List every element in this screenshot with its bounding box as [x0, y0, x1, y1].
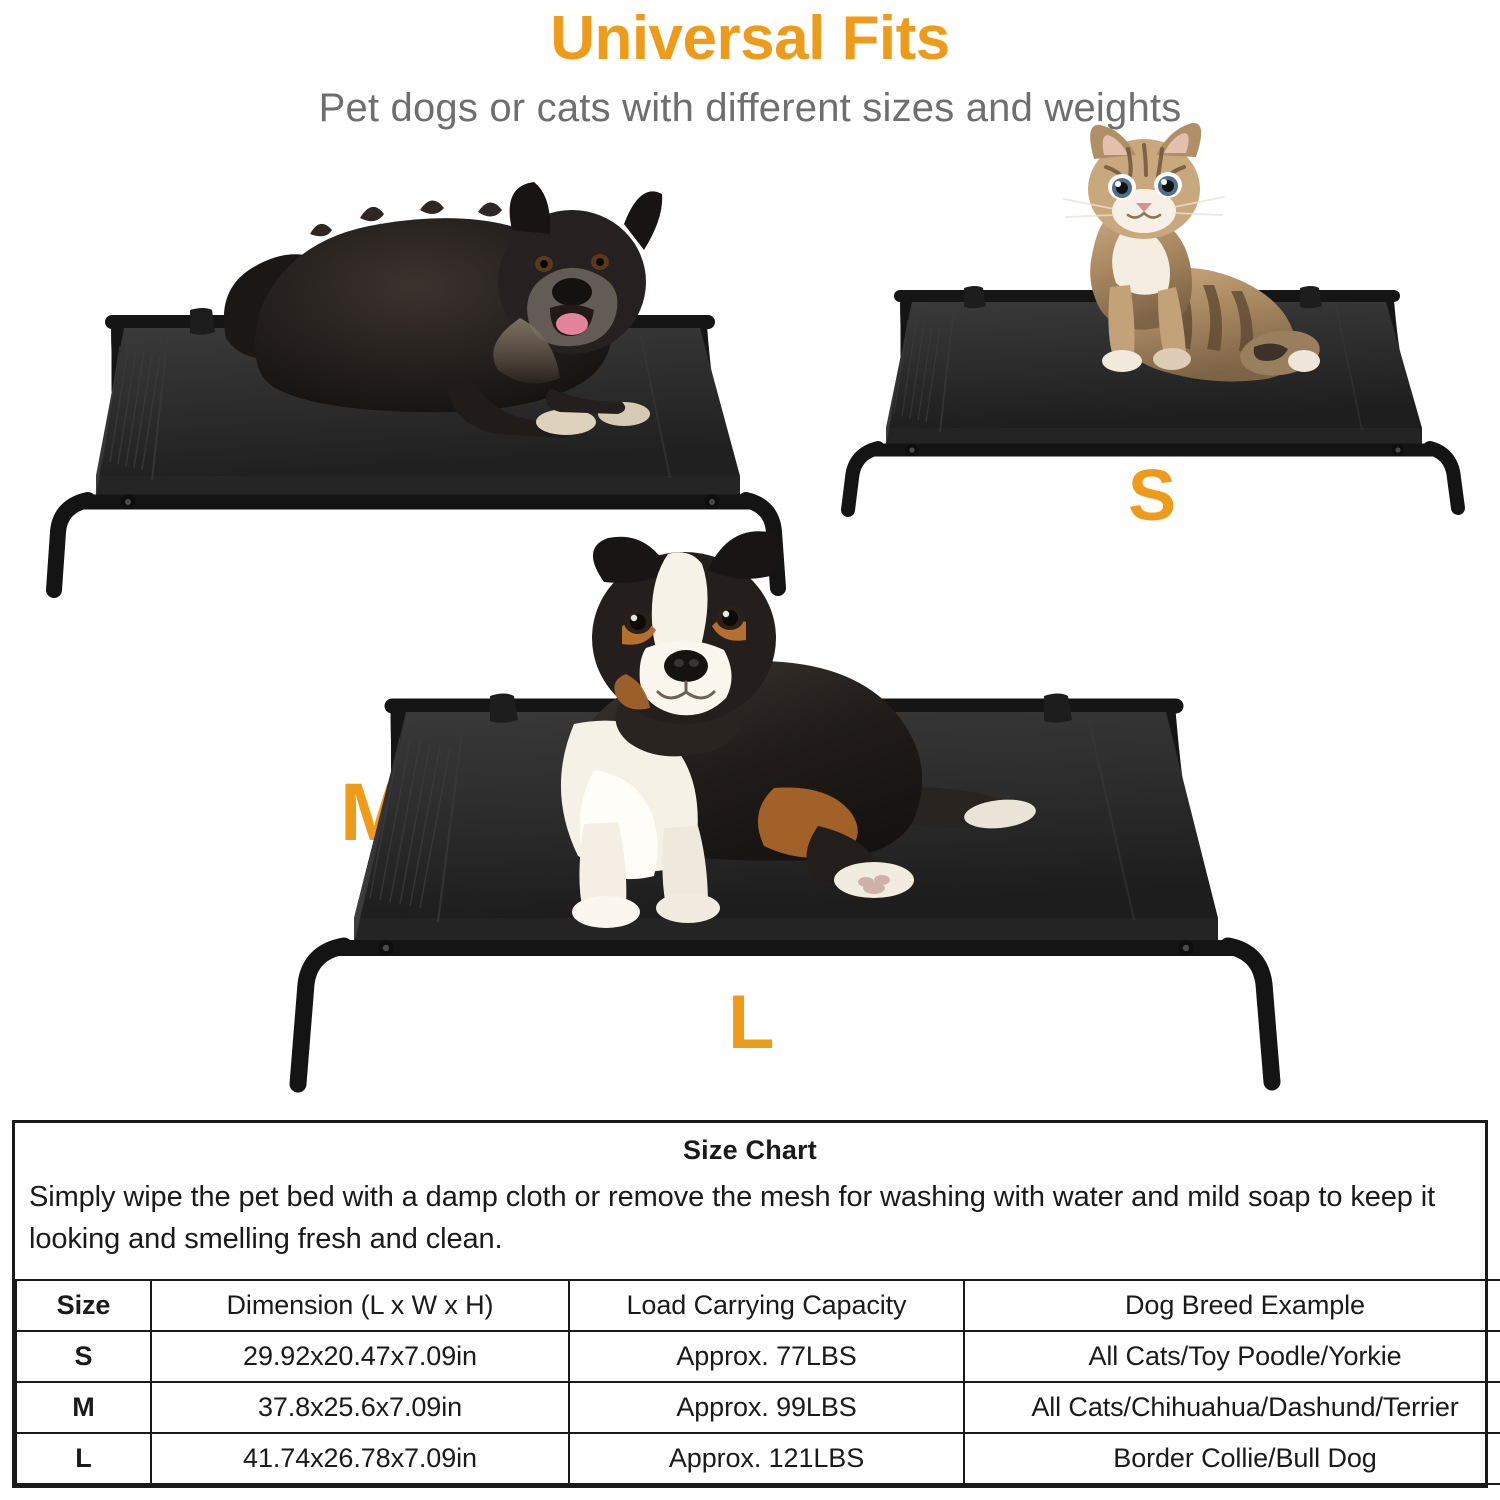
cell-breed: All Cats/Toy Poodle/Yorkie [964, 1331, 1500, 1382]
pet-bed-small: S [838, 280, 1453, 510]
column-header-breed: Dog Breed Example [964, 1280, 1500, 1331]
size-label-s: S [1128, 460, 1176, 532]
cell-dimension: 29.92x20.47x7.09in [151, 1331, 569, 1382]
cell-load: Approx. 121LBS [569, 1433, 964, 1484]
column-header-load: Load Carrying Capacity [569, 1280, 964, 1331]
cell-size: M [16, 1382, 151, 1433]
pet-tabby-kitten [1018, 125, 1348, 415]
cell-load: Approx. 77LBS [569, 1331, 964, 1382]
header: Universal Fits Pet dogs or cats with dif… [0, 0, 1500, 128]
size-chart-panel: Size Chart Simply wipe the pet bed with … [12, 1120, 1488, 1488]
size-table: Size Dimension (L x W x H) Load Carrying… [15, 1279, 1500, 1485]
page-subtitle: Pet dogs or cats with different sizes an… [0, 70, 1500, 128]
cell-dimension: 41.74x26.78x7.09in [151, 1433, 569, 1484]
pet-black-fluffy-dog [220, 190, 740, 490]
pet-australian-shepherd-puppy [388, 530, 1108, 950]
cell-load: Approx. 99LBS [569, 1382, 964, 1433]
cell-breed: All Cats/Chihuahua/Dashund/Terrier [964, 1382, 1500, 1433]
cell-dimension: 37.8x25.6x7.09in [151, 1382, 569, 1433]
size-chart-heading: Size Chart [15, 1123, 1485, 1166]
table-row: M 37.8x25.6x7.09in Approx. 99LBS All Cat… [16, 1382, 1500, 1433]
column-header-size: Size [16, 1280, 151, 1331]
table-row: S 29.92x20.47x7.09in Approx. 77LBS All C… [16, 1331, 1500, 1382]
page-title: Universal Fits [0, 0, 1500, 70]
table-row: L 41.74x26.78x7.09in Approx. 121LBS Bord… [16, 1433, 1500, 1484]
cell-breed: Border Collie/Bull Dog [964, 1433, 1500, 1484]
size-chart-description: Simply wipe the pet bed with a damp clot… [15, 1166, 1485, 1260]
product-infographic: Universal Fits Pet dogs or cats with dif… [0, 0, 1500, 1500]
cell-size: L [16, 1433, 151, 1484]
size-label-l: L [728, 985, 774, 1061]
column-header-dimension: Dimension (L x W x H) [151, 1280, 569, 1331]
pet-bed-large: L [268, 690, 1288, 1085]
table-header-row: Size Dimension (L x W x H) Load Carrying… [16, 1280, 1500, 1331]
cell-size: S [16, 1331, 151, 1382]
